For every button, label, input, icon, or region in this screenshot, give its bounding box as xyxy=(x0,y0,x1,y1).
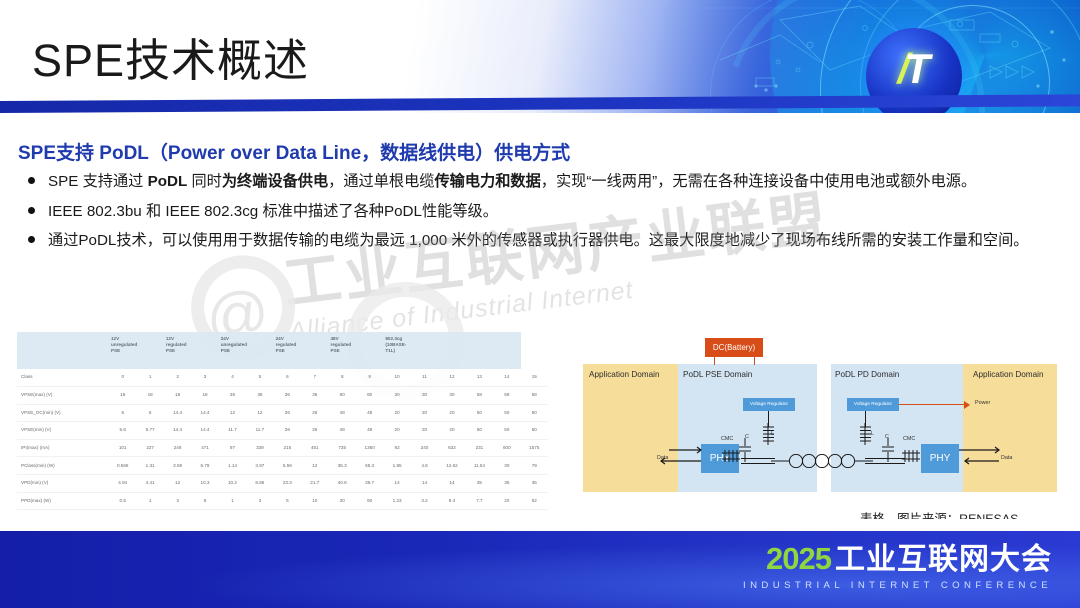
table-cell: 735 xyxy=(329,439,356,457)
table-cell: 60 xyxy=(356,387,383,405)
table-cell: 48 xyxy=(356,422,383,440)
table-col-header xyxy=(136,332,163,369)
diagram-wire-pse-bus xyxy=(741,458,775,459)
table-cell: 240 xyxy=(411,439,438,457)
conference-footer-logo: 2025 工业互联网大会 INDUSTRIAL INTERNET CONFERE… xyxy=(743,543,1052,591)
table-row: PPD(max) (W)0.51351351030501.233.28.47.7… xyxy=(17,492,548,510)
table-cell: 14 xyxy=(383,475,410,493)
table-cell: 1575 xyxy=(521,439,548,457)
table-cell: 11.7 xyxy=(219,422,246,440)
table-cell: 12 xyxy=(164,475,191,493)
table-cell: 6 xyxy=(274,369,301,387)
table-cell: 36 xyxy=(246,387,273,405)
footer-conference-en: INDUSTRIAL INTERNET CONFERENCE xyxy=(743,580,1052,591)
table-cell: 1.85 xyxy=(383,457,410,475)
table-cell: 12.62 xyxy=(438,457,465,475)
table-cell: 35 xyxy=(521,475,548,493)
table-row-label: VPSE_OC(min) (V) xyxy=(17,404,109,422)
table-cell: 65.3 xyxy=(356,457,383,475)
list-item: SPE 支持通过 PoDL 同时为终端设备供电，通过单根电缆传输电力和数据，实现… xyxy=(22,168,1062,196)
table-col-header xyxy=(246,332,273,369)
table-cell: 9 xyxy=(356,369,383,387)
table-cell: 18 xyxy=(191,387,218,405)
table-row: VPD(min) (V)4.944.411210.310.28.8623.321… xyxy=(17,475,548,493)
table-cell: 30 xyxy=(493,457,520,475)
table-cell: 1 xyxy=(219,492,246,510)
diagram-voltage-regulator-pd: Voltage Regulator xyxy=(847,398,899,411)
table-cell: 26 xyxy=(301,422,328,440)
table-col-header: 802.3cg (10BASE-T1L) xyxy=(383,332,410,369)
conference-t-logo: /T xyxy=(898,48,925,90)
table-cell: 30 xyxy=(411,387,438,405)
table-col-header xyxy=(411,332,438,369)
table-cell: 11.54 xyxy=(466,457,493,475)
diagram-dc-wire-right xyxy=(754,357,755,365)
table-cell: 60 xyxy=(329,387,356,405)
table-cell: 35 xyxy=(466,475,493,493)
table-cell: 8.86 xyxy=(246,475,273,493)
table-cell: 5.59 xyxy=(274,457,301,475)
table-row: Class0123456789101112131415 xyxy=(17,369,548,387)
table-col-header xyxy=(493,332,520,369)
table-cell: 20 xyxy=(411,404,438,422)
list-item: IEEE 802.3bu 和 IEEE 802.3cg 标准中描述了各种PoDL… xyxy=(22,198,1062,226)
table-cell: 1 xyxy=(136,492,163,510)
table-cell: 14.4 xyxy=(191,422,218,440)
table-cell: 20 xyxy=(438,422,465,440)
table-col-header xyxy=(301,332,328,369)
table-cell: 227 xyxy=(136,439,163,457)
table-cell: 21.7 xyxy=(301,475,328,493)
table-cell: 3.97 xyxy=(246,457,273,475)
diagram-label-app-left: Application Domain xyxy=(589,370,660,379)
diagram-label-data-left: Data xyxy=(657,455,668,461)
table-cell: 48 xyxy=(329,422,356,440)
table-cell: 1.14 xyxy=(219,457,246,475)
table-cell: 50 xyxy=(493,404,520,422)
table-cell: 5 xyxy=(246,369,273,387)
table-cell: 600 xyxy=(493,439,520,457)
table-cell: 79 xyxy=(521,457,548,475)
table-col-header xyxy=(438,332,465,369)
table-cell: 10 xyxy=(301,492,328,510)
diagram-label-cmc-pse: CMC xyxy=(721,436,733,442)
table-cell: 20 xyxy=(411,422,438,440)
diagram-label-data-right: Data xyxy=(1001,455,1012,461)
table-cell: 215 xyxy=(274,439,301,457)
bullet-text: SPE 支持通过 PoDL 同时为终端设备供电，通过单根电缆传输电力和数据，实现… xyxy=(48,173,976,190)
table-row-label: Class xyxy=(17,369,109,387)
table-cell: 1360 xyxy=(356,439,383,457)
table-cell: 1.23 xyxy=(383,492,410,510)
table-cell: 7 xyxy=(301,369,328,387)
table-cell: 3.2 xyxy=(411,492,438,510)
diagram-cmc-pse-icon xyxy=(721,448,741,464)
table-cell: 50 xyxy=(521,404,548,422)
diagram-wire-pse-bus-2 xyxy=(741,463,775,464)
diagram-data-arrows-pse xyxy=(635,446,705,468)
table-cell: 13 xyxy=(466,369,493,387)
slide-footer: 2025 工业互联网大会 INDUSTRIAL INTERNET CONFERE… xyxy=(0,531,1080,608)
table-cell: 12 xyxy=(219,404,246,422)
table-cell: 2 xyxy=(164,369,191,387)
table-cell: 249 xyxy=(164,439,191,457)
diagram-power-arrow-icon xyxy=(963,400,973,410)
table-cell: 23.3 xyxy=(274,475,301,493)
table-cell: 26 xyxy=(274,404,301,422)
table-col-header: 24V regulated PSE xyxy=(274,332,301,369)
diagram-podl-pse-domain xyxy=(678,364,817,492)
diagram-cmc-pd-icon xyxy=(901,448,921,464)
table-cell: 20 xyxy=(438,404,465,422)
table-col-header xyxy=(356,332,383,369)
table-cell: 3 xyxy=(164,492,191,510)
table-cell: 231 xyxy=(466,439,493,457)
table-cell: 1 xyxy=(136,369,163,387)
table-cell: 18 xyxy=(164,387,191,405)
table-cell: 11 xyxy=(411,369,438,387)
table-cell: 26 xyxy=(274,422,301,440)
table-col-header xyxy=(191,332,218,369)
table-cell: 0 xyxy=(109,369,136,387)
table-cell: 12 xyxy=(438,369,465,387)
table-cell: 5.77 xyxy=(136,422,163,440)
table-cell: 4.94 xyxy=(109,475,136,493)
table-cell: 40.8 xyxy=(329,475,356,493)
table-cell: 52 xyxy=(521,492,548,510)
table-cell: 4.41 xyxy=(136,475,163,493)
podl-parameter-table: 12V unregulated PSE12V regulated PSE24V … xyxy=(17,332,548,519)
table-cell: 5.6 xyxy=(109,422,136,440)
table-cell: 14 xyxy=(411,475,438,493)
table-cell: 20 xyxy=(383,422,410,440)
bullet-text: IEEE 802.3bu 和 IEEE 802.3cg 标准中描述了各种PoDL… xyxy=(48,203,498,220)
table-row: PClass(min) (W)0.5661.313.596.791.143.97… xyxy=(17,457,548,475)
diagram-label-inductor-pse: L xyxy=(771,431,774,437)
table-cell: 58 xyxy=(466,387,493,405)
table-cell: 15 xyxy=(521,369,548,387)
diagram-wire-pd-bus xyxy=(865,458,905,459)
table-header-row: 12V unregulated PSE12V regulated PSE24V … xyxy=(17,332,548,369)
table-cell: 14.4 xyxy=(164,422,191,440)
table-row: VPSE(min) (V)5.65.7714.414.411.711.72626… xyxy=(17,422,548,440)
diagram-label-cap-pse: C xyxy=(745,434,749,440)
bullet-dot-icon xyxy=(28,177,35,184)
table-cell: 3.59 xyxy=(164,457,191,475)
table-cell: 6 xyxy=(136,404,163,422)
table-cell: 97 xyxy=(219,439,246,457)
section-subheading: SPE支持 PoDL（Power over Data Line，数据线供电）供电… xyxy=(18,138,570,165)
table-cell: 50 xyxy=(466,404,493,422)
table-cell: 18 xyxy=(136,387,163,405)
podl-system-diagram: Application Domain PoDL PSE Domain PoDL … xyxy=(575,336,1065,499)
table-row-label: VPSE(max) (V) xyxy=(17,387,109,405)
table-cell: 20 xyxy=(383,404,410,422)
table-cell: 14 xyxy=(438,475,465,493)
table-col-header: 12V unregulated PSE xyxy=(109,332,136,369)
table-cell: 5 xyxy=(191,492,218,510)
table-cell: 12 xyxy=(301,457,328,475)
bullet-list: SPE 支持通过 PoDL 同时为终端设备供电，通过单根电缆传输电力和数据，实现… xyxy=(22,168,1062,257)
table-cell: 36.7 xyxy=(356,475,383,493)
diagram-label-power: Power xyxy=(975,400,990,406)
diagram-label-cap-pd: C xyxy=(885,434,889,440)
diagram-label-pd: PoDL PD Domain xyxy=(835,370,899,379)
diagram-wire-pd-bus-2 xyxy=(865,463,905,464)
table-cell: 36 xyxy=(274,387,301,405)
table-cell: 101 xyxy=(109,439,136,457)
table-cell: 0.566 xyxy=(109,457,136,475)
bullet-text: 通过PoDL技术，可以使用用于数据传输的电缆为最远 1,000 米外的传感器或执… xyxy=(48,232,1029,249)
table-cell: 11.7 xyxy=(246,422,273,440)
table-cell: 4.8 xyxy=(411,457,438,475)
table-cell: 6.79 xyxy=(191,457,218,475)
table-row: IPI(max) (mA)101227249471973392154617351… xyxy=(17,439,548,457)
table-cell: 632 xyxy=(438,439,465,457)
diagram-dc-wire-left xyxy=(714,357,715,365)
table-cell: 5 xyxy=(274,492,301,510)
table-cell: 339 xyxy=(246,439,273,457)
slide-header: /T SPE技术概述 xyxy=(0,0,1080,113)
table-cell: 50 xyxy=(493,422,520,440)
table-cell: 8 xyxy=(329,369,356,387)
table-cell: 35 xyxy=(493,475,520,493)
diagram-label-pse: PoDL PSE Domain xyxy=(683,370,752,379)
table-cell: 30 xyxy=(329,492,356,510)
diagram-label-cmc-pd: CMC xyxy=(903,436,915,442)
diagram-dc-battery-box: DC(Battery) xyxy=(705,338,763,357)
table-cell: 18 xyxy=(109,387,136,405)
diagram-voltage-regulator-pse: Voltage Regulator xyxy=(743,398,795,411)
diagram-label-inductor-pd: L xyxy=(871,431,874,437)
table-cell: 20 xyxy=(493,492,520,510)
table-cell: 50 xyxy=(521,422,548,440)
diagram-capacitor-pd-icon xyxy=(881,436,895,464)
table-col-header xyxy=(466,332,493,369)
table-cell: 12 xyxy=(246,404,273,422)
diagram-inductor-pse-icon xyxy=(759,422,779,446)
diagram-power-wire xyxy=(899,404,969,405)
table-cell: 14 xyxy=(493,369,520,387)
table-cell: 50 xyxy=(356,492,383,510)
table-row: VPSE(max) (V)181818183636363660603030305… xyxy=(17,387,548,405)
bullet-dot-icon xyxy=(28,236,35,243)
table-row: VPSE_OC(min) (V)6614.414.412122626484820… xyxy=(17,404,548,422)
table-cell: 58 xyxy=(493,387,520,405)
table-cell: 92 xyxy=(383,439,410,457)
table-cell: 8.4 xyxy=(438,492,465,510)
table-cell: 14.4 xyxy=(191,404,218,422)
table-cell: 35.3 xyxy=(329,457,356,475)
page-title: SPE技术概述 xyxy=(32,24,309,89)
table-cell: 471 xyxy=(191,439,218,457)
list-item: 通过PoDL技术，可以使用用于数据传输的电缆为最远 1,000 米外的传感器或执… xyxy=(22,227,1062,255)
footer-conference-cn: 工业互联网大会 xyxy=(835,545,1052,575)
logo-mark-letter: T xyxy=(904,45,925,92)
table-row-label: VPD(min) (V) xyxy=(17,475,109,493)
table-cell: 26 xyxy=(301,404,328,422)
table-cell: 36 xyxy=(219,387,246,405)
diagram-phy-pd: PHY xyxy=(921,444,959,473)
table-cell: 48 xyxy=(356,404,383,422)
diagram-application-domain-left xyxy=(583,364,678,492)
table-cell: 1.31 xyxy=(136,457,163,475)
table-cell: 10.3 xyxy=(191,475,218,493)
table-cell: 14.4 xyxy=(164,404,191,422)
table-cell: 36 xyxy=(301,387,328,405)
table-cell: 58 xyxy=(521,387,548,405)
bullet-dot-icon xyxy=(28,207,35,214)
slide-root: /T SPE技术概述 SPE支持 PoDL（Power over Data Li… xyxy=(0,0,1080,608)
table-col-header: 48V regulated PSE xyxy=(329,332,356,369)
table-row-label: IPI(max) (mA) xyxy=(17,439,109,457)
footer-white-gap xyxy=(0,519,1080,531)
table-cell: 3 xyxy=(191,369,218,387)
table-row-label: PPD(max) (W) xyxy=(17,492,109,510)
table-cell: 4 xyxy=(219,369,246,387)
table-cell: 10 xyxy=(383,369,410,387)
diagram-twisted-pair-cable xyxy=(771,454,873,468)
table-cell: 30 xyxy=(383,387,410,405)
table-cell: 50 xyxy=(466,422,493,440)
table-col-header: 12V regulated PSE xyxy=(164,332,191,369)
table-cell: 461 xyxy=(301,439,328,457)
table-cell: 6 xyxy=(109,404,136,422)
table-cell: 0.5 xyxy=(109,492,136,510)
diagram-label-app-right: Application Domain xyxy=(973,370,1044,379)
table-cell: 30 xyxy=(438,387,465,405)
table-cell: 48 xyxy=(329,404,356,422)
table-row-label: PClass(min) (W) xyxy=(17,457,109,475)
table-col-header: 24V unregulated PSE xyxy=(219,332,246,369)
table-row-label: VPSE(min) (V) xyxy=(17,422,109,440)
footer-year: 2025 xyxy=(766,543,831,574)
table-cell: 10.2 xyxy=(219,475,246,493)
table-cell: 3 xyxy=(246,492,273,510)
diagram-application-domain-right xyxy=(963,364,1057,492)
table-cell: 7.7 xyxy=(466,492,493,510)
table-col-header-blank xyxy=(17,332,109,369)
